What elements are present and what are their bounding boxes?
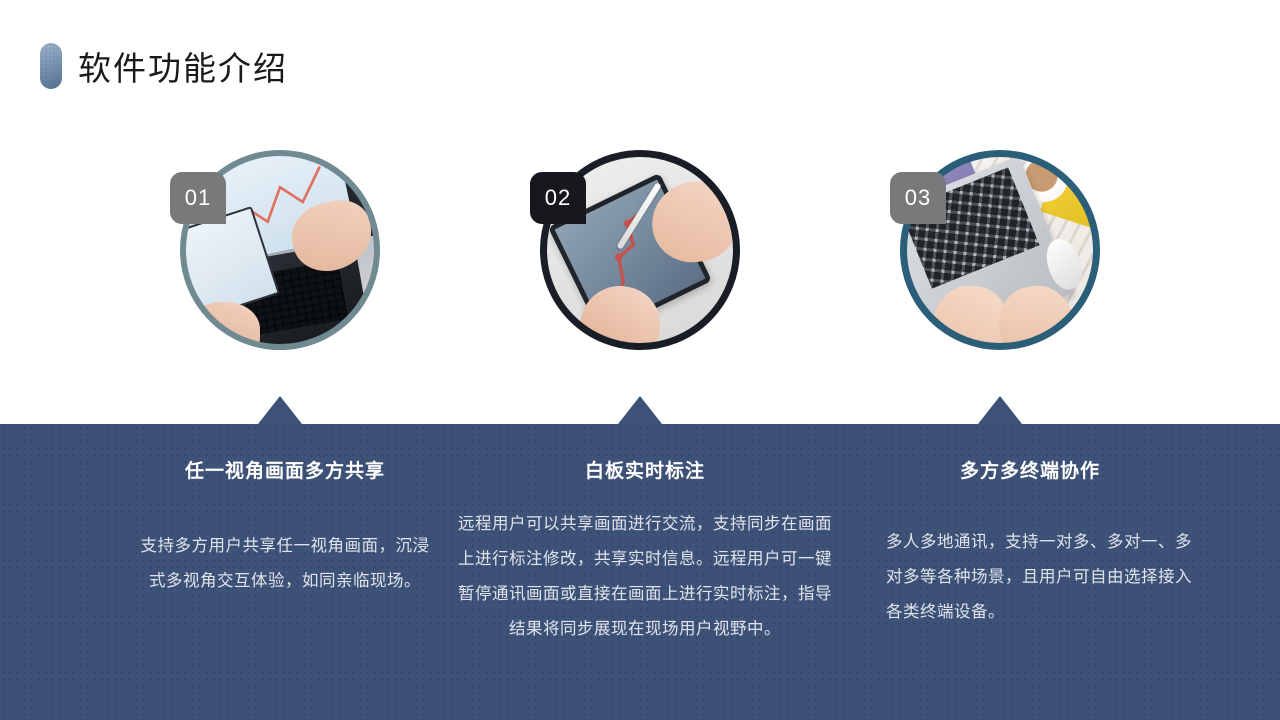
banner-notch-2 xyxy=(618,396,662,424)
feature-heading-01: 任一视角画面多方共享 xyxy=(120,456,450,483)
slide: 软件功能介绍 xyxy=(0,0,1280,720)
feature-body-03: 多人多地通讯，支持一对多、多对一、多对多等各种场景，且用户可自由选择接入各类终端… xyxy=(860,525,1200,630)
feature-card-01[interactable]: 01 xyxy=(180,150,380,350)
feature-badge-02: 02 xyxy=(530,172,586,224)
feature-text-03: 多方多终端协作 多人多地通讯，支持一对多、多对一、多对多等各种场景，且用户可自由… xyxy=(860,424,1200,630)
feature-body-02: 远程用户可以共享画面进行交流，支持同步在画面上进行标注修改，共享实时信息。远程用… xyxy=(452,507,838,647)
feature-heading-03: 多方多终端协作 xyxy=(860,456,1200,483)
feature-badge-03: 03 xyxy=(890,172,946,224)
page-title: 软件功能介绍 xyxy=(40,42,288,90)
feature-card-03[interactable]: 03 xyxy=(900,150,1100,350)
banner-notch-1 xyxy=(258,396,302,424)
feature-badge-01: 01 xyxy=(170,172,226,224)
feature-heading-02: 白板实时标注 xyxy=(452,456,838,483)
title-bullet-icon xyxy=(40,43,62,89)
feature-body-01: 支持多方用户共享任一视角画面，沉浸式多视角交互体验，如同亲临现场。 xyxy=(120,529,450,599)
feature-banner: 任一视角画面多方共享 支持多方用户共享任一视角画面，沉浸式多视角交互体验，如同亲… xyxy=(0,424,1280,720)
feature-card-02[interactable]: 02 xyxy=(540,150,740,350)
feature-text-01: 任一视角画面多方共享 支持多方用户共享任一视角画面，沉浸式多视角交互体验，如同亲… xyxy=(120,424,450,599)
banner-notch-3 xyxy=(978,396,1022,424)
page-title-text: 软件功能介绍 xyxy=(78,42,288,90)
feature-text-02: 白板实时标注 远程用户可以共享画面进行交流，支持同步在画面上进行标注修改，共享实… xyxy=(452,424,838,647)
